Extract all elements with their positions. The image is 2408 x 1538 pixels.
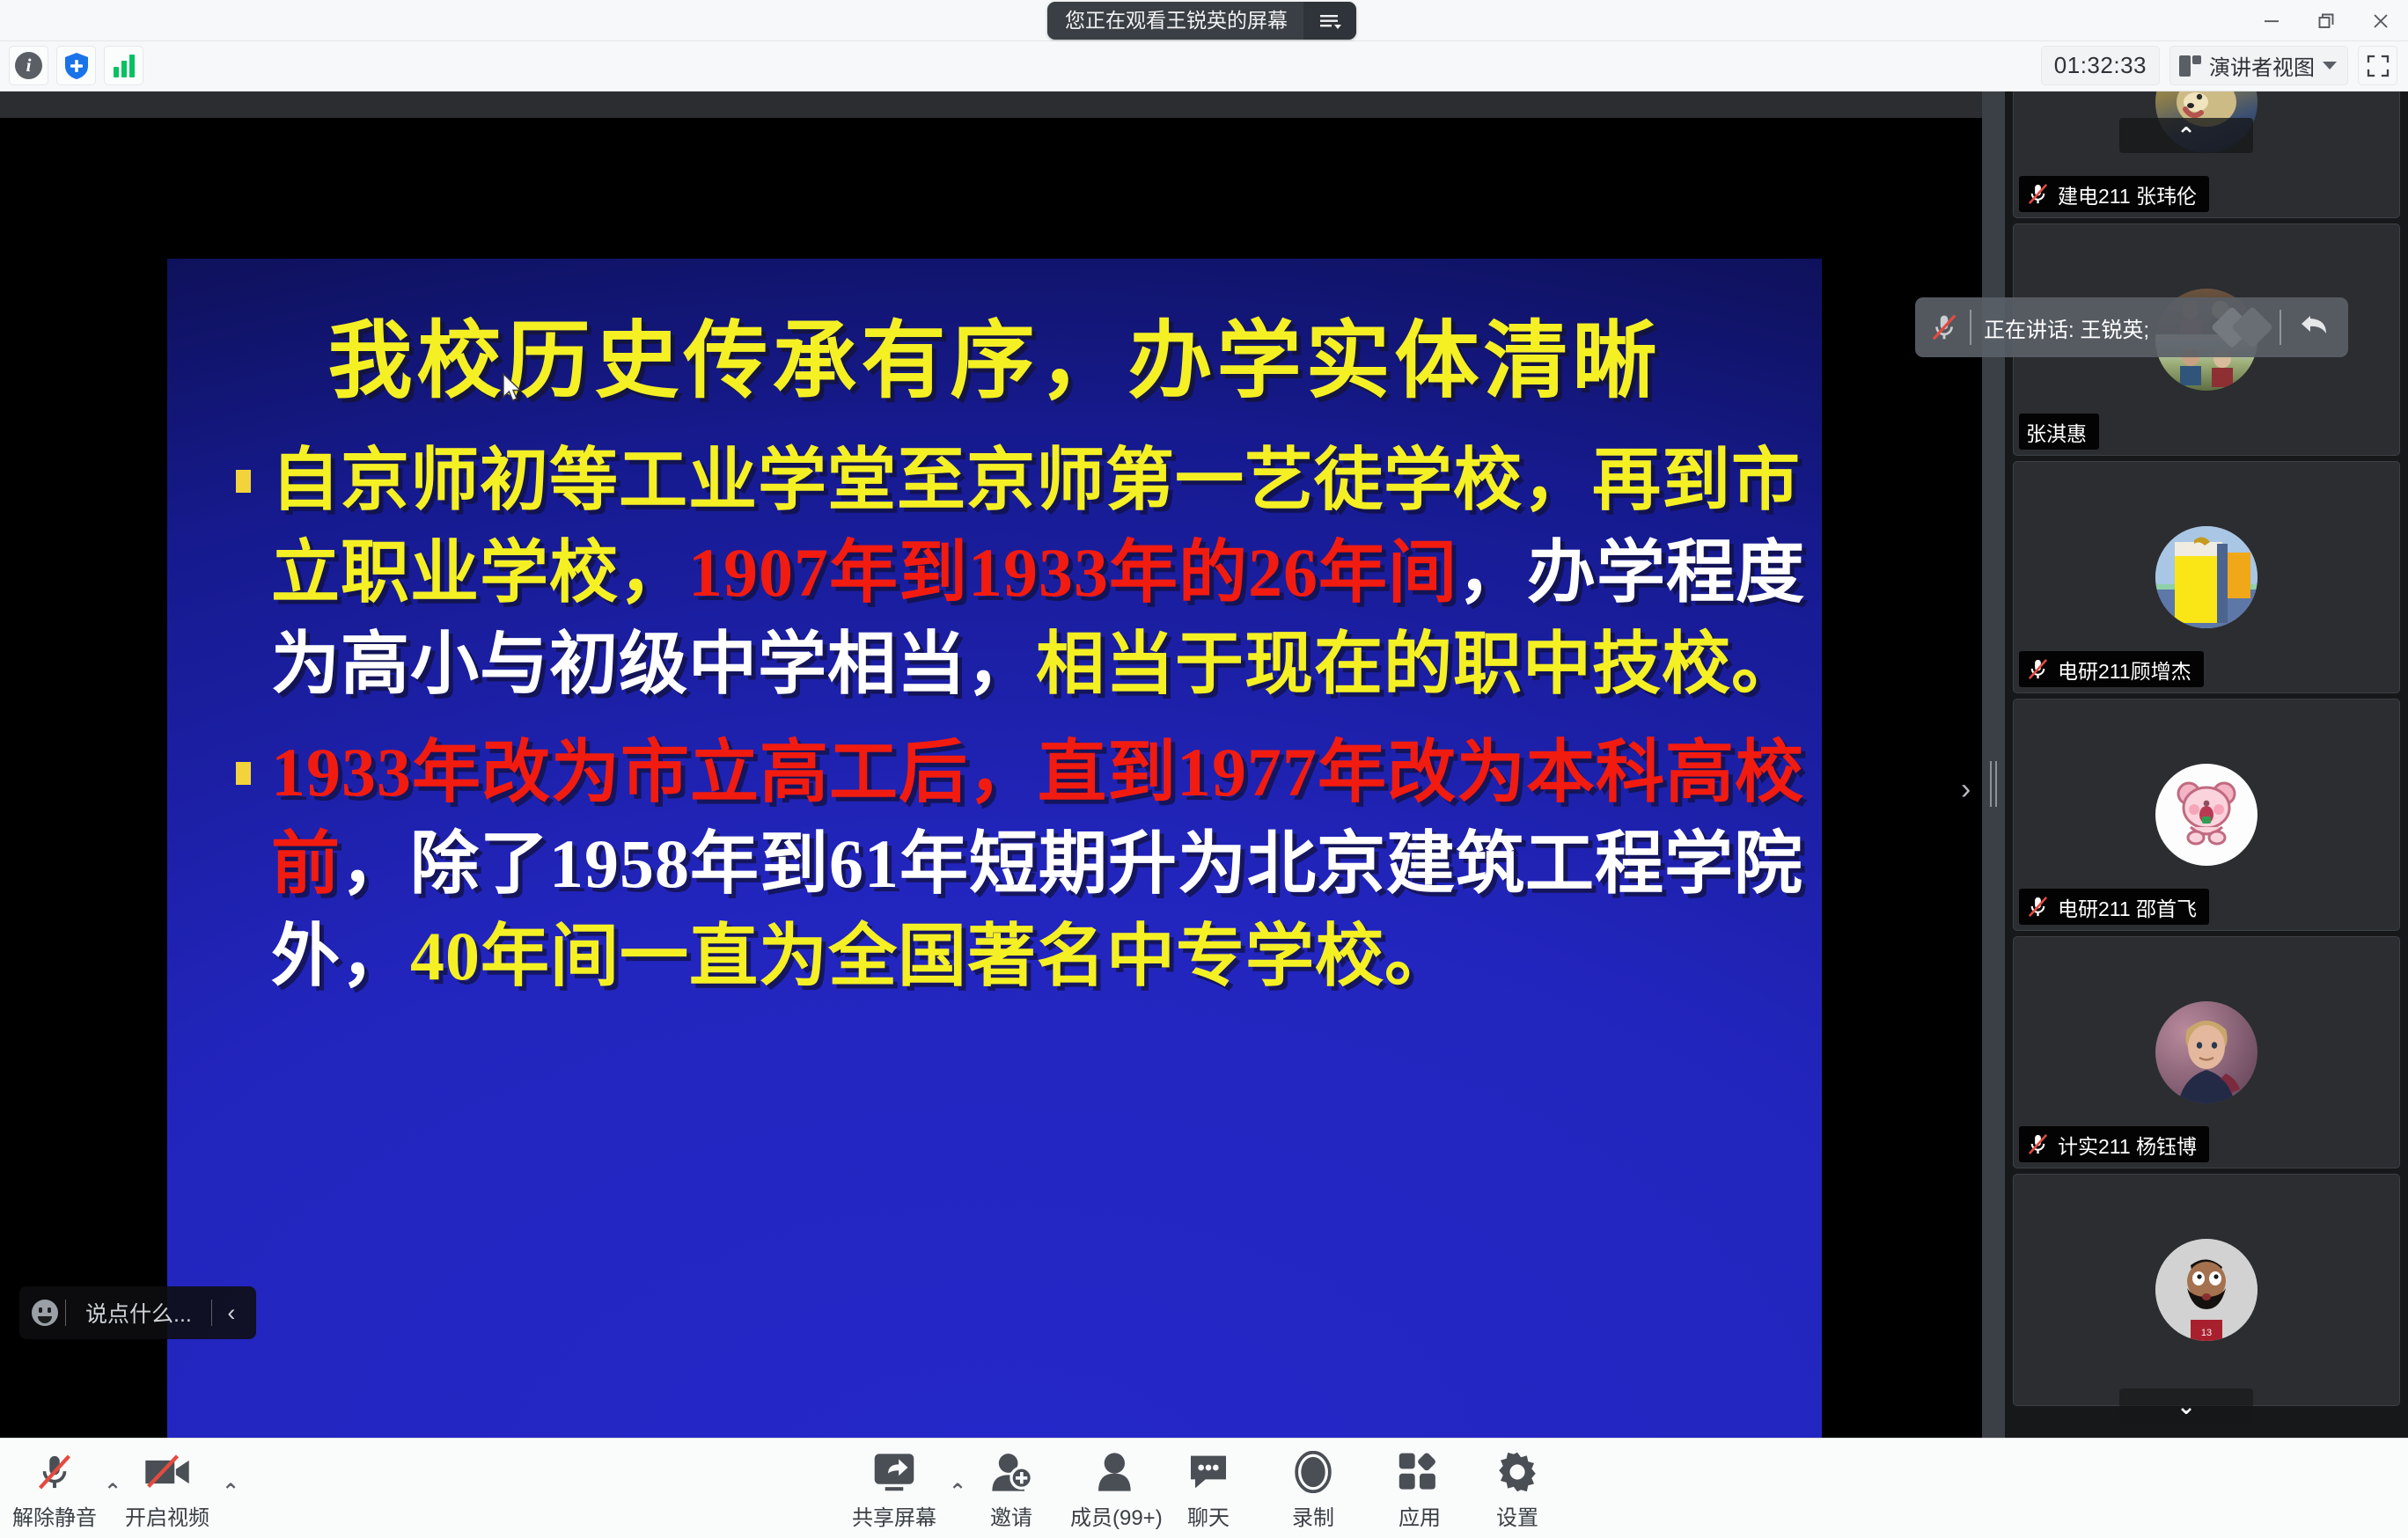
strip-scroll-up[interactable]: ⌃ (2119, 118, 2253, 153)
layout-icon (2179, 55, 2201, 77)
chevron-down-icon (2323, 62, 2337, 70)
square-bullet-icon (231, 435, 271, 711)
window-controls (2244, 0, 2408, 41)
chat-button[interactable]: 聊天 (1186, 1449, 1230, 1531)
participant-nameplate: 电研211顾增杰 (2019, 651, 2204, 687)
meeting-bottom-bar: 解除静音 ⌃ 开启视频 ⌃ 共享屏幕 ⌃ 邀请 成员(9 (0, 1438, 2408, 1538)
avatar (2155, 526, 2257, 628)
participant-name: 电研211顾增杰 (2058, 655, 2191, 685)
slide-bullet-text: 1933年改为市立高工后，直到1977年改为本科高校前，除了1958年到61年短… (271, 727, 1815, 1003)
avatar: 13 (2155, 1239, 2257, 1341)
start-video-label: 开启视频 (125, 1500, 209, 1531)
smiley-icon[interactable] (25, 1293, 65, 1333)
slide-bullet: 自京师初等工业学堂至京师第一艺徒学校，再到市立职业学校，1907年到1933年的… (231, 435, 1815, 711)
audio-options-caret[interactable]: ⌃ (104, 1479, 121, 1505)
settings-button[interactable]: 设置 (1496, 1449, 1538, 1531)
apps-icon (1398, 1449, 1442, 1495)
unmute-label: 解除静音 (12, 1500, 97, 1531)
chevron-down-icon: ⌄ (2177, 1395, 2196, 1417)
add-person-icon (989, 1449, 1033, 1495)
presentation-slide: 我校历史传承有序，办学实体清晰 自京师初等工业学堂至京师第一艺徒学校，再到市立职… (167, 259, 1822, 1438)
participant-tile[interactable]: 电研211 邵首飞 (2013, 699, 2400, 931)
shared-screen-stage[interactable]: 我校历史传承有序，办学实体清晰 自京师初等工业学堂至京师第一艺徒学校，再到市立职… (0, 92, 1982, 1438)
window-titlebar: 您正在观看王锐英的屏幕 (0, 0, 2408, 41)
view-mode-label: 演讲者视图 (2209, 50, 2315, 81)
participant-tile[interactable]: 计实211 杨钰博 (2013, 936, 2400, 1168)
stage-letterbox (0, 92, 1982, 118)
mouse-cursor (502, 373, 525, 406)
mic-muted-icon (2026, 895, 2050, 919)
chat-input-placeholder[interactable]: 说点什么... (66, 1297, 211, 1329)
unmute-button[interactable]: 解除静音 (12, 1449, 97, 1531)
square-bullet-icon (231, 727, 271, 1003)
avatar (2155, 764, 2257, 866)
participant-tile[interactable]: 电研211顾增杰 (2013, 461, 2400, 693)
divider (1970, 310, 1971, 345)
view-mode-selector[interactable]: 演讲者视图 (2169, 46, 2348, 85)
bullet-run: 相当于现在的职中技校。 (1036, 626, 1801, 702)
participants-label: 成员(99+) (1070, 1500, 1163, 1531)
zoom-meeting-window: 您正在观看王锐英的屏幕 i (0, 0, 2408, 1538)
hamburger-icon[interactable] (1303, 2, 1356, 40)
slide-title: 我校历史传承有序，办学实体清晰 (167, 292, 1822, 414)
active-speaker-bar[interactable]: 正在讲话: 王锐英; (1915, 297, 2348, 357)
shield-plus-icon[interactable] (56, 46, 96, 85)
toolbar-left-group: i (9, 46, 143, 85)
mic-muted-icon (2026, 182, 2050, 206)
info-icon[interactable]: i (9, 46, 48, 85)
chevron-up-icon: ⌃ (2177, 124, 2196, 147)
camera-off-icon (143, 1449, 192, 1495)
wechat-work-icon[interactable] (2217, 312, 2267, 342)
meeting-timer: 01:32:33 (2041, 46, 2160, 85)
chat-label: 聊天 (1187, 1500, 1230, 1531)
participant-nameplate: 建电211 张玮伦 (2019, 176, 2209, 212)
minimize-icon[interactable] (2244, 0, 2299, 41)
person-icon (1094, 1449, 1138, 1495)
chevron-right-icon[interactable]: › (1961, 774, 1971, 804)
participant-tile[interactable]: 13 (2013, 1174, 2400, 1406)
invite-label: 邀请 (990, 1500, 1032, 1531)
participant-name: 电研211 邵首飞 (2058, 892, 2197, 922)
participant-name: 建电211 张玮伦 (2058, 179, 2197, 209)
slide-bullet: 1933年改为市立高工后，直到1977年改为本科高校前，除了1958年到61年短… (231, 727, 1815, 1003)
participant-name: 张淇惠 (2026, 417, 2087, 447)
participant-name: 计实211 杨钰博 (2058, 1130, 2197, 1160)
settings-label: 设置 (1496, 1500, 1538, 1531)
record-icon (1293, 1449, 1333, 1495)
participant-nameplate: 计实211 杨钰博 (2019, 1126, 2209, 1162)
invite-button[interactable]: 邀请 (989, 1449, 1033, 1531)
signal-bars-icon[interactable] (104, 46, 143, 85)
watching-screen-label: 您正在观看王锐英的屏幕 (1047, 2, 1303, 40)
maximize-icon[interactable] (2299, 0, 2353, 41)
chevron-left-icon[interactable]: ‹ (212, 1300, 251, 1327)
share-screen-icon (871, 1449, 917, 1495)
participant-tile[interactable]: 建电211 张玮伦 (2013, 92, 2400, 218)
record-button[interactable]: 录制 (1292, 1449, 1334, 1531)
meeting-toolbar: i 01:32:33 演讲者视图 (0, 41, 2408, 92)
gear-icon (1496, 1449, 1538, 1495)
strip-scroll-down[interactable]: ⌄ (2119, 1388, 2253, 1424)
bullet-run: 1907年到1933年的26年间 (688, 534, 1457, 611)
chat-bubble-icon (1186, 1449, 1230, 1495)
slide-bullet-list: 自京师初等工业学堂至京师第一艺徒学校，再到市立职业学校，1907年到1933年的… (231, 435, 1815, 1018)
strip-resize-gutter[interactable] (1982, 92, 2005, 1438)
svg-text:13: 13 (2201, 1328, 2212, 1338)
participant-nameplate: 张淇惠 (2019, 414, 2099, 450)
share-screen-button[interactable]: 共享屏幕 (852, 1449, 936, 1531)
mic-muted-icon (2026, 657, 2050, 681)
video-options-caret[interactable]: ⌃ (222, 1479, 239, 1505)
chat-quick-entry[interactable]: 说点什么... ‹ (19, 1286, 256, 1339)
mic-muted-icon (2026, 1132, 2050, 1156)
slide-bullet-text: 自京师初等工业学堂至京师第一艺徒学校，再到市立职业学校，1907年到1933年的… (271, 435, 1815, 711)
record-label: 录制 (1292, 1500, 1334, 1531)
reply-arrow-icon[interactable] (2287, 311, 2339, 345)
mic-muted-icon (34, 1449, 75, 1495)
fullscreen-icon[interactable] (2358, 46, 2397, 85)
share-screen-label: 共享屏幕 (852, 1500, 936, 1531)
participant-video-strip[interactable]: 建电211 张玮伦 张淇惠 (2005, 92, 2408, 1438)
share-options-caret[interactable]: ⌃ (949, 1479, 966, 1505)
mic-muted-icon (1924, 312, 1964, 342)
close-icon[interactable] (2353, 0, 2408, 41)
participants-button[interactable]: 成员(99+) (1070, 1449, 1163, 1531)
bullet-run: 40年间一直为全国著名中专学校。 (410, 918, 1454, 994)
divider (2280, 310, 2281, 345)
start-video-button[interactable]: 开启视频 (125, 1449, 209, 1531)
slide-viewport: 我校历史传承有序，办学实体清晰 自京师初等工业学堂至京师第一艺徒学校，再到市立职… (0, 118, 1982, 1438)
apps-label: 应用 (1399, 1500, 1441, 1531)
active-speaker-label: 正在讲话: 王锐英; (1977, 312, 2217, 343)
participant-nameplate: 电研211 邵首飞 (2019, 889, 2209, 925)
avatar (2155, 1001, 2257, 1103)
watching-screen-banner[interactable]: 您正在观看王锐英的屏幕 (1047, 2, 1356, 40)
toolbar-right-group: 01:32:33 演讲者视图 (2041, 46, 2397, 85)
apps-button[interactable]: 应用 (1398, 1449, 1442, 1531)
